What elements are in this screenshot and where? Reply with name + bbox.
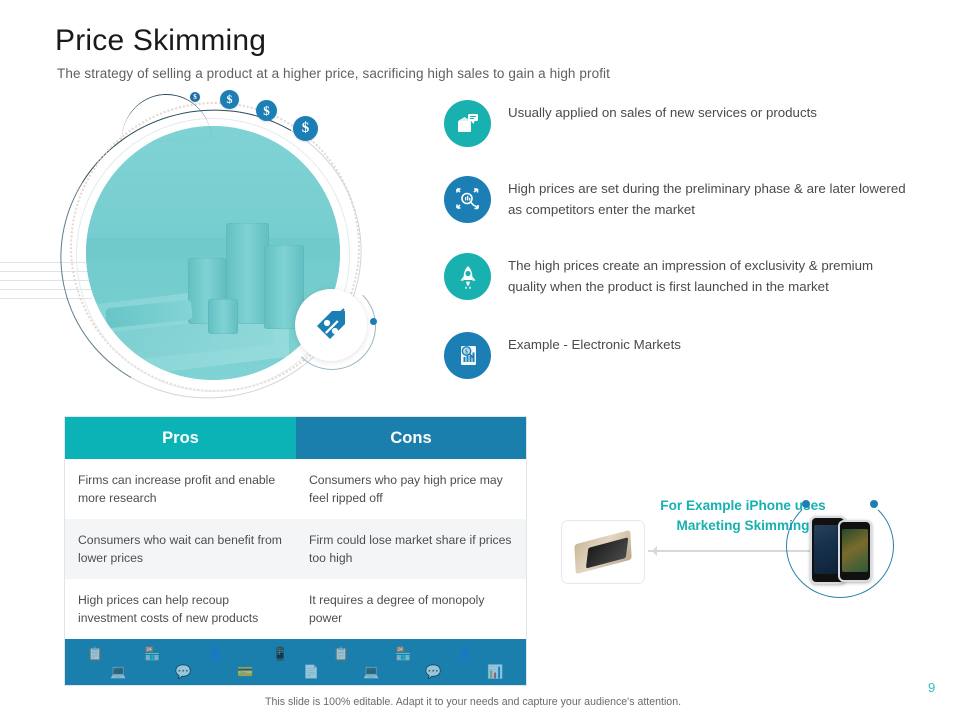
- monitor-icon: 💻: [110, 665, 126, 680]
- mobile-form-icon: 📱: [272, 647, 288, 662]
- credit-card-icon: 💳: [237, 665, 253, 680]
- dollar-coin-icon: $: [256, 100, 277, 121]
- table-row: Consumers who wait can benefit from lowe…: [65, 519, 526, 579]
- laptop-search-icon: 💻: [363, 665, 379, 680]
- clipboard-icon: 📋: [87, 647, 103, 662]
- page-title: Price Skimming: [55, 24, 266, 58]
- bullet-text: High prices are set during the prelimina…: [508, 176, 914, 220]
- table-cell-cons: Firm could lose market share if prices t…: [296, 519, 526, 579]
- dollar-coin-icon: $: [293, 116, 318, 141]
- bullet-text: Example - Electronic Markets: [508, 332, 681, 355]
- footer-note: This slide is 100% editable. Adapt it to…: [265, 696, 681, 708]
- bullet-item-3: The high prices create an impression of …: [444, 253, 914, 300]
- tag-badge-dot: [370, 318, 377, 325]
- bullet-text: The high prices create an impression of …: [508, 253, 914, 297]
- user-location-icon: 👤: [207, 647, 223, 662]
- chat-bubbles-icon: 💬: [175, 665, 191, 680]
- table-header-cons: Cons: [296, 417, 526, 459]
- slide-root: Price Skimming The strategy of selling a…: [0, 0, 960, 720]
- table-cell-pros: Firms can increase profit and enable mor…: [65, 459, 296, 519]
- store-icon: 🏪: [144, 647, 160, 662]
- magnifier-arrows-icon: [444, 176, 491, 223]
- document-icon: 📄: [303, 665, 319, 680]
- dollar-coin-icon: $: [220, 90, 239, 109]
- bullet-text: Usually applied on sales of new services…: [508, 100, 817, 123]
- percent-price-tag-icon: [295, 289, 367, 361]
- tablet-device-image: [561, 520, 645, 584]
- bullet-item-1: Usually applied on sales of new services…: [444, 100, 817, 147]
- pros-cons-table: Pros Cons Firms can increase profit and …: [64, 416, 527, 686]
- table-header-row: Pros Cons: [65, 417, 526, 459]
- table-row: Firms can increase profit and enable mor…: [65, 459, 526, 519]
- store-icon: 🏪: [395, 647, 411, 662]
- chat-bubbles-icon: 💬: [425, 665, 441, 680]
- iphone-example-block: For Example iPhone uses Marketing Skimmi…: [556, 492, 926, 604]
- package-speech-bubble-icon: [444, 100, 491, 147]
- bullet-item-4: $ Example - Electronic Markets: [444, 332, 681, 379]
- table-header-pros: Pros: [65, 417, 296, 459]
- table-cell-cons: Consumers who pay high price may feel ri…: [296, 459, 526, 519]
- clipboard-icon: 📋: [333, 647, 349, 662]
- phone-image: [838, 520, 872, 582]
- bullet-item-2: High prices are set during the prelimina…: [444, 176, 914, 223]
- circular-image-composition: $ $ $ $: [52, 96, 372, 396]
- table-cell-pros: Consumers who wait can benefit from lowe…: [65, 519, 296, 579]
- svg-text:$: $: [465, 348, 468, 355]
- example-dot: [870, 500, 878, 508]
- table-cell-cons: It requires a degree of monopoly power: [296, 579, 526, 639]
- table-row: High prices can help recoup investment c…: [65, 579, 526, 639]
- rocket-icon: [444, 253, 491, 300]
- user-location-icon: 👤: [457, 647, 473, 662]
- page-number: 9: [928, 680, 935, 695]
- two-iphones-image: [786, 494, 894, 598]
- magnifier-chart-icon: $: [444, 332, 491, 379]
- decorative-icon-band: 📋 💻 🏪 💬 👤 💳 📱 📄 📋 💻 🏪 💬 👤 📊: [65, 639, 526, 685]
- example-dot: [802, 500, 810, 508]
- table-cell-pros: High prices can help recoup investment c…: [65, 579, 296, 639]
- dollar-coin-icon: $: [190, 92, 200, 102]
- page-subtitle: The strategy of selling a product at a h…: [57, 66, 610, 81]
- presentation-icon: 📊: [487, 665, 503, 680]
